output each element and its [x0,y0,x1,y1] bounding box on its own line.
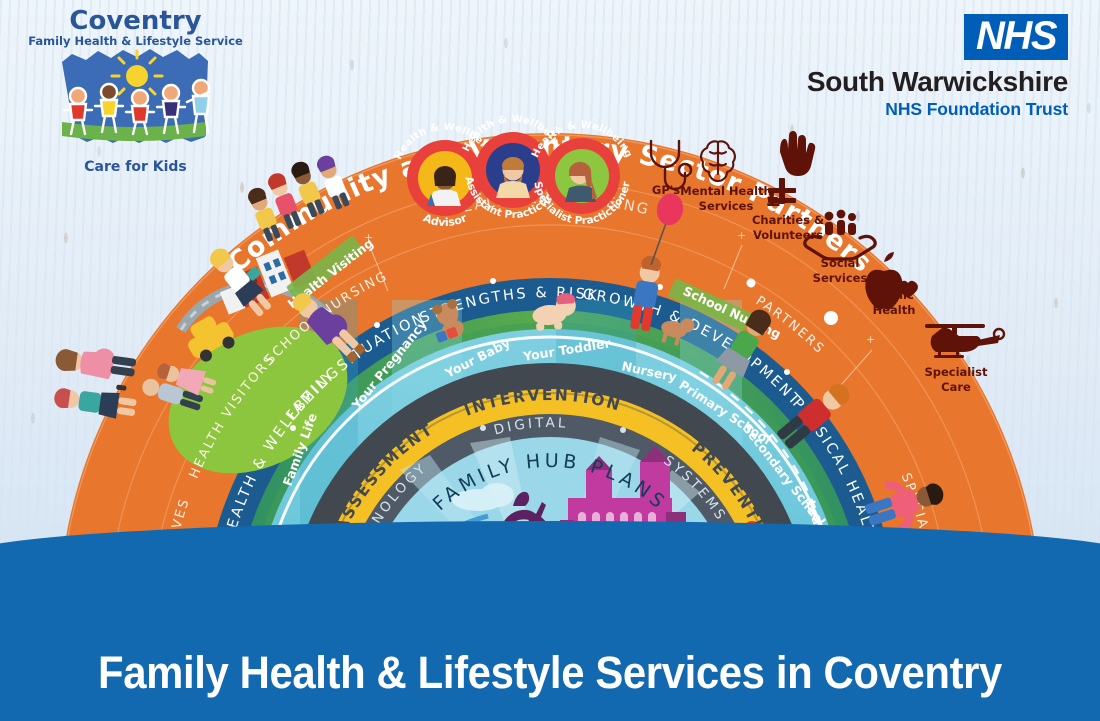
partner-label-mental-health-l1: Mental Health [676,185,776,198]
bottom-banner: Family Health & Lifestyle Services in Co… [0,521,1100,721]
poster-title: Family Health & Lifestyle Services in Co… [1,647,1098,699]
nhs-logo: NHS South Warwickshire NHS Foundation Tr… [807,14,1068,120]
nhs-trust-type: NHS Foundation Trust [807,99,1068,120]
nhs-trust-name: South Warwickshire [807,66,1068,98]
partner-label-public-l2: Health [851,304,937,317]
coventry-logo-strapline: Care for Kids [84,159,186,175]
partner-icon-specialist-care: Specialist Care [913,364,999,393]
partner-label-specialist-l1: Specialist [913,366,999,379]
nhs-wordmark: NHS [964,14,1068,60]
partner-label-social-l1: Social [797,257,883,270]
partner-label-public-l1: Public [851,289,937,302]
partner-label-social-l2: Services [797,272,883,285]
partner-label-charities-l2: Volunteers [745,229,831,242]
children-holding-hands-icon [34,44,249,164]
partner-label-mental-health-l2: Services [676,200,776,213]
partner-icon-social-services: Social Services [797,255,883,284]
partner-label-specialist-l2: Care [913,381,999,394]
partner-icon-public-health: Public Health [851,287,937,316]
partner-icon-charities: Charities & Volunteers [745,212,831,241]
partner-label-charities-l1: Charities & [745,214,831,227]
partner-icon-mental-health: Mental Health Services [676,183,776,212]
svg-text:+: + [866,333,875,346]
infographic-poster: + + + + [0,0,1100,721]
coventry-logo-name: Coventry [69,6,201,36]
coventry-logo: Coventry Family Health & Lifestyle Servi… [28,4,243,179]
